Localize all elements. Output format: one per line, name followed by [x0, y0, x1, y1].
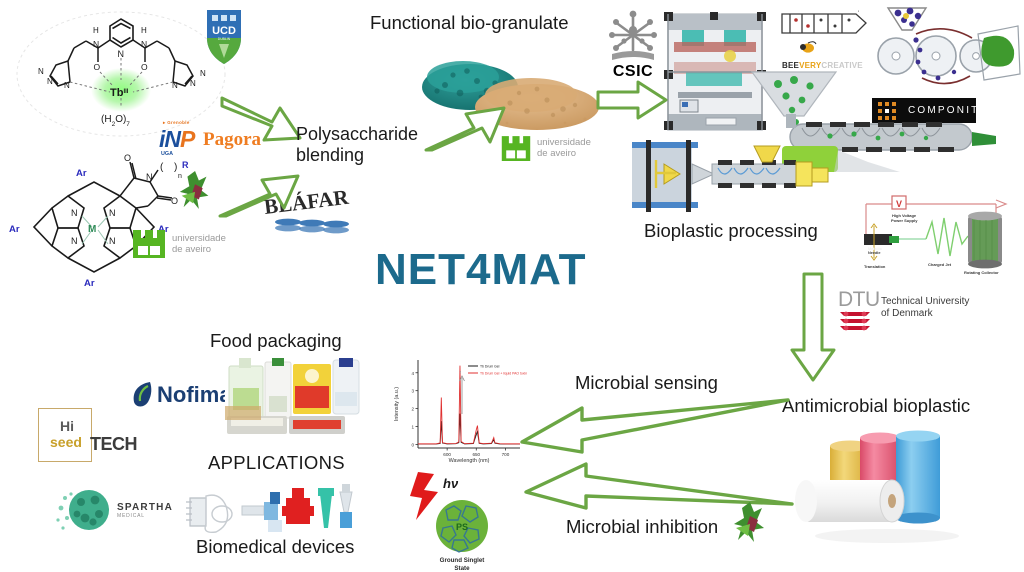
svg-text:UCD: UCD: [212, 25, 236, 37]
dtu-line1: Technical University: [881, 296, 969, 308]
food-packaging-image: [225, 358, 361, 436]
svg-text:N: N: [118, 49, 125, 59]
decorative-leaf-icon-left: [176, 166, 216, 214]
spectrum-xtick: 700: [502, 452, 510, 457]
water-ligand-label: (H2O)7: [101, 114, 130, 128]
injection-moulding-image: [630, 140, 830, 218]
arrow-blending-to-granulate: [424, 100, 510, 154]
hiseed-seed: seed: [50, 434, 82, 450]
svg-text:O: O: [124, 153, 131, 163]
aryl-label-top: Ar: [76, 168, 87, 179]
aryl-label-left: Ar: [9, 224, 20, 235]
logo-aveiro-small-bottom: [730, 498, 772, 546]
svg-text:N: N: [200, 69, 206, 78]
label-bioplastic-processing: Bioplastic processing: [644, 220, 874, 241]
logo-hiseedtech: Hi seed TECH: [38, 408, 168, 464]
spectrum-annotation: ↑: [459, 370, 462, 376]
electrospinning-diagram: V High Voltage Power Supply Translation …: [856, 186, 1022, 278]
logo-csic: CSIC: [602, 8, 664, 78]
svg-text:N: N: [109, 208, 116, 218]
rotating-collector-label: Rotating Collector: [964, 270, 999, 275]
ps-state-line2: State: [454, 565, 470, 572]
spectrum-ytick: 0: [411, 442, 414, 447]
label-polysaccharide-blending: Polysaccharide blending: [296, 124, 432, 165]
spartha-wordmark: SPARTHA: [117, 502, 173, 513]
arrow-granulate-to-processing: [596, 78, 668, 122]
biomedical-devices-image: [186, 484, 356, 542]
logo-dolfeed: ' DOLFEED: [778, 8, 870, 38]
nofima-wordmark: Nofima: [157, 382, 232, 408]
bee-part3: CREATIVE: [821, 61, 862, 70]
label-antimicrobial-bioplastic: Antimicrobial bioplastic: [782, 395, 1022, 416]
svg-text:O: O: [141, 62, 148, 72]
svg-text:N: N: [71, 208, 78, 218]
svg-text:N: N: [64, 81, 70, 90]
svg-text:(: (: [160, 162, 164, 173]
logo-dtu: DTU Technical University of Denmark: [838, 290, 1014, 338]
hv-label: hν: [443, 476, 459, 491]
aveiro-book-icon: [131, 228, 167, 262]
aveiro-center-line2: de aveiro: [537, 149, 591, 160]
arrow-to-microbial-sensing: [520, 398, 792, 460]
arrow-porphyrin-to-blending: [216, 158, 306, 220]
spectrum-xtick: 650: [472, 452, 480, 457]
polysaccharide-blending-line2: blending: [296, 145, 432, 166]
dolfeed-wordmark: DOLFEED: [824, 23, 825, 24]
translation-label: Translation: [864, 264, 886, 269]
svg-text:N: N: [109, 236, 116, 246]
spectrum-ytick: 3: [411, 389, 414, 394]
bee-part1: BEE: [782, 61, 799, 70]
spectrum-ytick: 1: [411, 425, 414, 430]
svg-text:DUBLIN: DUBLIN: [218, 37, 231, 41]
power-supply-line2: Power Supply: [891, 218, 918, 223]
photosensitizer-diagram: hν PS Ground Singlet State: [398, 470, 528, 570]
svg-text:N: N: [146, 172, 153, 182]
svg-text:N: N: [38, 67, 44, 76]
svg-text:': ': [858, 11, 859, 17]
svg-text:N: N: [47, 77, 53, 86]
nofima-leaf-icon: [130, 380, 156, 410]
arrow-processing-to-antimicrobial: [790, 272, 838, 384]
spectrum-xlabel: Wavelength (nm): [449, 458, 490, 464]
polysaccharide-blending-line1: Polysaccharide: [296, 124, 432, 145]
logo-spartha-medical: SPARTHA MEDICAL: [55, 484, 185, 536]
spectrum-series: [418, 414, 520, 444]
svg-text:H: H: [93, 26, 99, 35]
aryl-label-bottom: Ar: [84, 278, 95, 289]
ps-state-line1: Ground Singlet: [440, 557, 485, 564]
logo-ucd: UCD DUBLIN: [201, 8, 247, 66]
svg-text:O: O: [94, 62, 101, 72]
porphyrin-metal-label: M: [88, 224, 96, 235]
charged-jet-label: Charged Jet: [928, 262, 952, 267]
emission-spectrum-chart: 600650700 01234 ↑ Tb Drum GelTb Drum Gel…: [388, 352, 526, 464]
logo-universidade-de-aveiro-left: universidade de aveiro: [131, 224, 241, 266]
svg-text:H: H: [141, 26, 147, 35]
spectrum-series: [418, 366, 520, 444]
aveiro-line2: de aveiro: [172, 245, 226, 256]
spectrum-ylabel: Intensity (a.u.): [394, 387, 400, 421]
svg-text:N: N: [141, 39, 147, 49]
svg-text:N: N: [93, 39, 99, 49]
ps-label: PS: [456, 522, 468, 532]
dtu-bars-icon: [838, 310, 872, 332]
hiseed-hi: Hi: [60, 418, 74, 434]
aveiro-book-icon-2: [500, 134, 532, 165]
bioplastic-rolls-image: [792, 428, 982, 548]
spectrum-legend-entry: Tb Drum Gel + liquid PAO toxin: [480, 372, 527, 376]
needle-line2: Needle: [868, 251, 880, 255]
voltage-symbol: V: [896, 199, 902, 209]
label-functional-bio-granulate: Functional bio-granulate: [370, 12, 600, 33]
logo-universidade-de-aveiro-center: universidade de aveiro: [500, 128, 610, 170]
net4mat-diagram: N N H O N N N: [0, 0, 1024, 572]
logo-beeverycreative: BEEVERYCREATIVE: [778, 40, 886, 68]
label-applications: APPLICATIONS: [208, 452, 408, 473]
dtu-line2: of Denmark: [881, 308, 969, 320]
svg-text:N: N: [190, 79, 196, 88]
hiseed-tech: TECH: [90, 434, 137, 455]
spectrum-legend-entry: Tb Drum Gel: [480, 365, 500, 369]
svg-text:N: N: [71, 236, 78, 246]
page-title: NET4MAT: [375, 245, 587, 295]
spectrum-ytick: 2: [411, 407, 414, 412]
dtu-mark: DTU: [838, 290, 872, 310]
spectrum-ytick: 4: [411, 371, 414, 376]
label-microbial-sensing: Microbial sensing: [575, 372, 775, 393]
spectrum-xtick: 600: [443, 452, 451, 457]
inp-top-label: Grenoble: [167, 120, 189, 125]
spartha-sub: MEDICAL: [117, 513, 173, 519]
bee-part2: VERY: [799, 61, 821, 70]
label-food-packaging: Food packaging: [210, 330, 410, 351]
spartha-dots-icon: [55, 486, 111, 534]
